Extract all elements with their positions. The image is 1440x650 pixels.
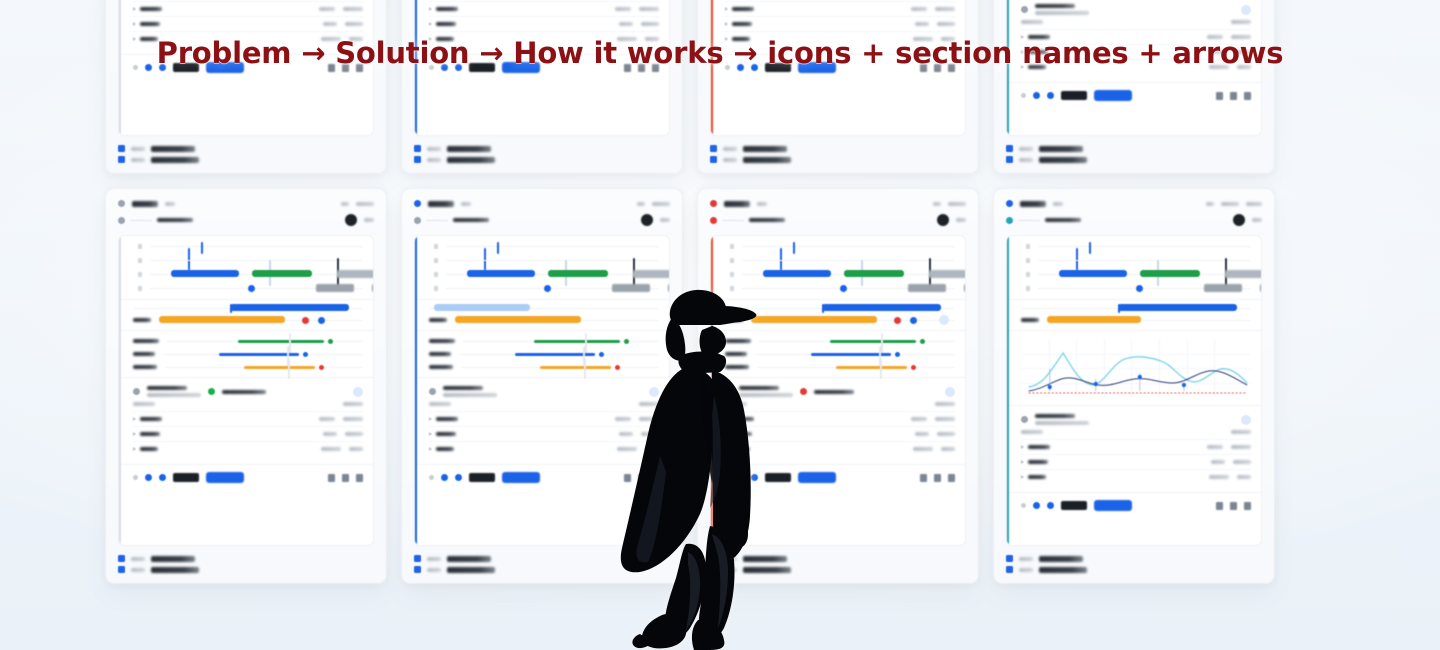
chart-spike bbox=[497, 242, 499, 254]
table-cell bbox=[133, 447, 158, 451]
edit-icon[interactable] bbox=[948, 474, 955, 482]
card-title-group bbox=[414, 200, 471, 207]
timeline-row bbox=[1021, 308, 1251, 309]
toggle-on-icon[interactable] bbox=[1033, 502, 1040, 509]
card-subtitle-group bbox=[1006, 217, 1081, 224]
table-cell-value bbox=[140, 417, 162, 421]
table-cell bbox=[133, 432, 160, 436]
chart-bar bbox=[844, 270, 904, 277]
toggle-on-icon[interactable] bbox=[145, 474, 152, 481]
download-icon[interactable] bbox=[342, 474, 349, 482]
card-header bbox=[414, 200, 670, 226]
legend-value bbox=[447, 556, 491, 562]
legend-key bbox=[1019, 568, 1033, 572]
chart-label-chip bbox=[1225, 270, 1262, 278]
dashboard-card-preview[interactable] bbox=[105, 188, 387, 584]
download-icon[interactable] bbox=[1230, 502, 1237, 510]
table-cell-value bbox=[140, 7, 162, 11]
chart-row bbox=[1021, 272, 1251, 277]
table-row[interactable] bbox=[133, 442, 363, 456]
axis-tick bbox=[133, 258, 142, 263]
card-icon bbox=[1006, 200, 1013, 207]
chart-bar bbox=[252, 270, 312, 277]
gantt-bar bbox=[836, 366, 907, 369]
secondary-button[interactable] bbox=[1061, 501, 1087, 510]
card-tag bbox=[165, 202, 175, 206]
table-cell bbox=[1021, 460, 1048, 464]
legend-marker bbox=[1006, 566, 1013, 573]
timeline-bar bbox=[159, 316, 285, 323]
table-cell-value bbox=[937, 432, 955, 436]
dashboard-card-preview[interactable] bbox=[993, 188, 1275, 584]
table-action-icon[interactable] bbox=[1241, 5, 1251, 15]
table-subtitle bbox=[1035, 421, 1089, 425]
timeline-node bbox=[894, 317, 901, 324]
chart-track bbox=[446, 274, 659, 275]
card-subtitle bbox=[157, 218, 193, 222]
chart-track bbox=[742, 274, 955, 275]
headline-overlay-text: Problem → Solution → How it works → icon… bbox=[0, 36, 1440, 70]
table-header-labels bbox=[1035, 414, 1089, 425]
avatar bbox=[641, 214, 653, 226]
card-icon bbox=[414, 200, 421, 207]
axis-tick bbox=[1021, 258, 1030, 263]
table-cell-value bbox=[1237, 475, 1251, 479]
card-subtitle bbox=[749, 218, 785, 222]
legend-key bbox=[1019, 557, 1033, 561]
table-status-label bbox=[222, 390, 266, 394]
card-header-top bbox=[710, 200, 966, 207]
edit-icon[interactable] bbox=[1244, 92, 1251, 100]
legend-marker bbox=[414, 145, 421, 152]
table-subtitle bbox=[1035, 11, 1089, 15]
timeline-bar bbox=[434, 304, 531, 311]
table-cell-value bbox=[1028, 460, 1048, 464]
timeline-node bbox=[910, 317, 917, 324]
card-tag bbox=[1053, 202, 1063, 206]
card-icon bbox=[710, 200, 717, 207]
legend-value bbox=[743, 146, 787, 152]
chart-label-chip bbox=[337, 270, 374, 278]
timeline-track bbox=[1021, 308, 1251, 309]
gantt-rows bbox=[133, 339, 363, 369]
card-subtitle-group bbox=[710, 217, 785, 224]
filter-icon[interactable] bbox=[920, 474, 927, 482]
card-header bbox=[710, 200, 966, 226]
radio-icon[interactable] bbox=[133, 475, 138, 480]
download-icon[interactable] bbox=[934, 474, 941, 482]
table-subtitle bbox=[147, 393, 201, 397]
table-row[interactable] bbox=[133, 2, 363, 17]
chart-label-chip bbox=[1204, 284, 1242, 292]
radio-icon[interactable] bbox=[429, 475, 434, 480]
timeline-bar bbox=[455, 316, 581, 323]
table-cell-value bbox=[323, 22, 337, 26]
axis-tick-mark bbox=[730, 258, 734, 263]
card-meta-value bbox=[637, 202, 645, 206]
column-header-label bbox=[935, 402, 955, 406]
table-title bbox=[443, 386, 483, 390]
axis-tick-mark bbox=[138, 258, 142, 263]
legend-marker bbox=[1006, 145, 1013, 152]
table-row[interactable] bbox=[429, 2, 659, 17]
legend-value bbox=[151, 556, 195, 562]
column-header-label bbox=[133, 402, 155, 406]
table-cell bbox=[429, 7, 458, 11]
edit-icon[interactable] bbox=[356, 474, 363, 482]
table-section bbox=[1007, 406, 1261, 493]
card-subtitle-icon bbox=[1006, 217, 1013, 224]
card-header-avatar-group bbox=[345, 214, 374, 226]
chart-row bbox=[133, 258, 363, 263]
gantt-label bbox=[133, 365, 157, 369]
chart-track bbox=[446, 260, 659, 261]
chevron-right-icon bbox=[429, 417, 432, 421]
axis-tick bbox=[429, 258, 438, 263]
footer-left-actions bbox=[1021, 500, 1132, 511]
table-action-icon[interactable] bbox=[945, 387, 955, 397]
axis-tick-mark bbox=[138, 244, 142, 249]
table-row[interactable] bbox=[1021, 455, 1251, 470]
primary-button[interactable] bbox=[1094, 500, 1132, 511]
table-cell-value bbox=[436, 432, 456, 436]
timeline-track bbox=[159, 320, 363, 321]
card-title-group bbox=[1006, 200, 1063, 207]
gantt-label bbox=[133, 339, 159, 343]
card-subtitle bbox=[1045, 218, 1081, 222]
card-header-bottom bbox=[118, 214, 374, 226]
chevron-right-icon bbox=[725, 22, 728, 26]
dashboard-card-preview[interactable] bbox=[105, 0, 387, 174]
legend-item bbox=[118, 145, 374, 152]
legend-value bbox=[1039, 146, 1083, 152]
chart-row bbox=[725, 258, 955, 263]
primary-button[interactable] bbox=[502, 472, 540, 483]
table-cell-value bbox=[619, 22, 633, 26]
table-cell-value bbox=[436, 417, 458, 421]
legend-item bbox=[1006, 145, 1262, 152]
toggle-on-icon[interactable] bbox=[159, 474, 166, 481]
table-header-left bbox=[1021, 4, 1089, 15]
column-header-label bbox=[1231, 430, 1251, 434]
gantt-row bbox=[133, 339, 363, 343]
gantt-section bbox=[119, 331, 373, 378]
card-header-meta bbox=[637, 202, 670, 206]
toggle-on-icon[interactable] bbox=[441, 474, 448, 481]
toggle-on-icon[interactable] bbox=[455, 474, 462, 481]
card-subtitle bbox=[453, 218, 489, 222]
chevron-right-icon bbox=[1021, 460, 1024, 464]
table-cell-value bbox=[321, 447, 341, 451]
avatar bbox=[1233, 214, 1245, 226]
card-subtitle-icon bbox=[414, 217, 421, 224]
primary-button[interactable] bbox=[1094, 90, 1132, 101]
axis-tick bbox=[133, 244, 142, 249]
table-cell-value bbox=[732, 22, 752, 26]
gantt-track bbox=[165, 367, 363, 368]
table-action-icon[interactable] bbox=[353, 387, 363, 397]
chart-bar bbox=[1140, 270, 1200, 277]
table-row[interactable] bbox=[725, 17, 955, 32]
axis-tick-mark bbox=[138, 272, 142, 277]
table-row[interactable] bbox=[1021, 470, 1251, 484]
legend-value bbox=[447, 157, 495, 163]
download-icon[interactable] bbox=[1230, 92, 1237, 100]
chart-track bbox=[150, 246, 363, 247]
card-header-top bbox=[414, 200, 670, 207]
chart-bar bbox=[171, 270, 239, 277]
table-cell-value bbox=[436, 447, 454, 451]
timeline-node bbox=[302, 317, 309, 324]
card-meta-value bbox=[356, 202, 374, 206]
chart-rows bbox=[1021, 244, 1251, 291]
card-meta-value bbox=[1206, 202, 1214, 206]
table-cell-value bbox=[639, 7, 659, 11]
table-cell-value bbox=[915, 432, 929, 436]
axis-tick-mark bbox=[1026, 258, 1030, 263]
chart-spike bbox=[1089, 242, 1091, 254]
chart-track bbox=[1038, 274, 1251, 275]
chevron-right-icon bbox=[133, 417, 136, 421]
gantt-track bbox=[163, 354, 363, 355]
timeline-track bbox=[133, 308, 363, 309]
gantt-node bbox=[911, 365, 916, 370]
table-cell-value bbox=[436, 7, 458, 11]
legend-key bbox=[427, 568, 441, 572]
chart-track bbox=[150, 260, 363, 261]
table-cell-value bbox=[1028, 475, 1046, 479]
table-title bbox=[1035, 414, 1075, 418]
timeline-node bbox=[939, 315, 949, 325]
linechart bbox=[1021, 339, 1251, 397]
panel-accent-bar bbox=[1007, 236, 1009, 545]
legend-item bbox=[1006, 156, 1262, 163]
chevron-right-icon bbox=[133, 7, 136, 11]
secondary-button[interactable] bbox=[1061, 91, 1087, 100]
gantt-node bbox=[328, 339, 333, 344]
screenshot-stage: Problem → Solution → How it works → icon… bbox=[0, 0, 1440, 650]
avatar bbox=[937, 214, 949, 226]
chart-bar bbox=[1059, 270, 1127, 277]
card-subtitle-group bbox=[414, 217, 489, 224]
axis-tick bbox=[429, 272, 438, 277]
card-header-top bbox=[1006, 200, 1262, 207]
column-header-label bbox=[1231, 20, 1251, 24]
chart-row bbox=[133, 244, 363, 249]
card-legend bbox=[1006, 555, 1262, 573]
legend-value bbox=[1039, 567, 1087, 573]
filter-icon[interactable] bbox=[1216, 92, 1223, 100]
table-cell-value bbox=[345, 22, 363, 26]
axis-tick-mark bbox=[434, 244, 438, 249]
legend-marker bbox=[414, 156, 421, 163]
card-header bbox=[1006, 200, 1262, 226]
walking-person-silhouette bbox=[600, 276, 810, 650]
legend-key bbox=[131, 557, 145, 561]
dashboard-card-preview[interactable] bbox=[697, 0, 979, 174]
table-header-icon bbox=[1021, 416, 1028, 423]
card-title bbox=[1020, 201, 1046, 207]
table-cell-value bbox=[349, 447, 363, 451]
chevron-right-icon bbox=[133, 432, 136, 436]
radio-icon[interactable] bbox=[1021, 93, 1026, 98]
table-cell-value bbox=[937, 22, 955, 26]
table-header-labels bbox=[1035, 4, 1089, 15]
axis-tick bbox=[1021, 244, 1030, 249]
chart-label-chip bbox=[1260, 284, 1262, 292]
table-cell-value bbox=[1207, 445, 1223, 449]
card-legend bbox=[710, 145, 966, 163]
table-header-labels bbox=[443, 386, 497, 397]
table-row[interactable] bbox=[429, 17, 659, 32]
dashboard-card-preview[interactable] bbox=[401, 0, 683, 174]
card-subtitle-group bbox=[118, 217, 193, 224]
table-cell-value bbox=[941, 447, 955, 451]
table-cell-value bbox=[140, 447, 158, 451]
secondary-button[interactable] bbox=[173, 473, 199, 482]
gantt-label bbox=[429, 339, 455, 343]
gantt-label bbox=[133, 352, 155, 356]
axis-tick-mark bbox=[730, 244, 734, 249]
table-row[interactable] bbox=[133, 17, 363, 32]
axis-tick bbox=[725, 258, 734, 263]
timeline-label bbox=[429, 318, 447, 322]
legend-item bbox=[118, 566, 374, 573]
dashboard-card-preview[interactable] bbox=[993, 0, 1275, 174]
table-cell-value bbox=[935, 7, 955, 11]
legend-marker bbox=[710, 156, 717, 163]
legend-item bbox=[710, 156, 966, 163]
chart-row bbox=[1021, 286, 1251, 291]
card-header-avatar-group bbox=[1233, 214, 1262, 226]
card-header bbox=[118, 200, 374, 226]
filter-icon[interactable] bbox=[1216, 502, 1223, 510]
chart-node bbox=[1136, 285, 1143, 292]
divider bbox=[1018, 220, 1040, 221]
chart-track bbox=[1038, 288, 1251, 289]
card-legend bbox=[118, 555, 374, 573]
chevron-right-icon bbox=[429, 447, 432, 451]
card-meta-value bbox=[1221, 202, 1239, 206]
legend-key bbox=[723, 147, 737, 151]
gantt-track bbox=[167, 341, 363, 342]
timeline-bar bbox=[1118, 304, 1238, 311]
table-header-left bbox=[429, 386, 497, 397]
card-footer-actions bbox=[1007, 493, 1261, 518]
table-cell bbox=[725, 22, 752, 26]
chevron-right-icon bbox=[429, 7, 432, 11]
legend-item bbox=[118, 156, 374, 163]
table-header-icon bbox=[133, 388, 140, 395]
table-row[interactable] bbox=[1021, 440, 1251, 455]
linechart-series bbox=[1021, 339, 1251, 397]
axis-tick bbox=[1021, 272, 1030, 277]
card-meta-value bbox=[652, 202, 670, 206]
table-cell-value bbox=[615, 7, 631, 11]
filter-icon[interactable] bbox=[328, 474, 335, 482]
table-cell-value bbox=[1028, 445, 1050, 449]
chart-label-chip bbox=[372, 284, 374, 292]
axis-tick bbox=[133, 286, 142, 291]
chart-label-chip bbox=[929, 270, 966, 278]
footer-left-actions bbox=[429, 472, 540, 483]
toggle-on-icon[interactable] bbox=[1047, 502, 1054, 509]
divider bbox=[722, 220, 744, 221]
footer-right-actions bbox=[328, 474, 363, 482]
toggle-on-icon[interactable] bbox=[1033, 92, 1040, 99]
table-action-icon[interactable] bbox=[1241, 415, 1251, 425]
edit-icon[interactable] bbox=[1244, 502, 1251, 510]
radio-icon[interactable] bbox=[1021, 503, 1026, 508]
table-cell bbox=[1021, 475, 1046, 479]
column-header-label bbox=[343, 402, 363, 406]
chevron-right-icon bbox=[1021, 445, 1024, 449]
footer-right-actions bbox=[920, 474, 955, 482]
axis-tick-mark bbox=[138, 286, 142, 291]
table-cell bbox=[429, 432, 456, 436]
footer-right-actions bbox=[1216, 502, 1251, 510]
table-section bbox=[119, 378, 373, 465]
card-title-group bbox=[710, 200, 767, 207]
card-title-group bbox=[118, 200, 175, 207]
card-subtitle-icon bbox=[710, 217, 717, 224]
card-footer-actions bbox=[119, 465, 373, 490]
table-header-left bbox=[133, 386, 266, 397]
table-status-dot bbox=[208, 388, 215, 395]
card-icon bbox=[118, 200, 125, 207]
timeline-marker bbox=[230, 304, 232, 313]
table-cell-value bbox=[343, 417, 363, 421]
table-cell-value bbox=[436, 22, 456, 26]
table-cell bbox=[133, 417, 162, 421]
timeline-row bbox=[133, 308, 363, 309]
table-cell bbox=[133, 7, 162, 11]
timeline-node bbox=[318, 317, 325, 324]
avatar-label bbox=[1252, 218, 1262, 222]
card-header-avatar-group bbox=[937, 214, 966, 226]
legend-item bbox=[118, 555, 374, 562]
table-row[interactable] bbox=[133, 427, 363, 442]
card-preview-panel bbox=[118, 235, 374, 546]
toggle-on-icon[interactable] bbox=[1047, 92, 1054, 99]
table-cell bbox=[429, 22, 456, 26]
primary-button[interactable] bbox=[206, 472, 244, 483]
chart-row bbox=[133, 272, 363, 277]
timeline-bar bbox=[1047, 316, 1141, 323]
table-title bbox=[147, 386, 187, 390]
table-cell-value bbox=[915, 22, 929, 26]
legend-value bbox=[743, 157, 791, 163]
divider bbox=[426, 220, 448, 221]
legend-item bbox=[1006, 555, 1262, 562]
table-cell-value bbox=[1231, 445, 1251, 449]
card-meta-value bbox=[933, 202, 941, 206]
chevron-right-icon bbox=[725, 7, 728, 11]
chart-node bbox=[840, 285, 847, 292]
axis-tick bbox=[429, 244, 438, 249]
table-cell-value bbox=[319, 417, 335, 421]
table-cell-value bbox=[935, 417, 955, 421]
secondary-button[interactable] bbox=[469, 473, 495, 482]
table-cell-value bbox=[345, 432, 363, 436]
chart-row bbox=[429, 258, 659, 263]
chart-track bbox=[1038, 246, 1251, 247]
gantt-label bbox=[429, 352, 451, 356]
table-row[interactable] bbox=[725, 2, 955, 17]
table-cell-value bbox=[1233, 460, 1251, 464]
table-row[interactable] bbox=[133, 412, 363, 427]
chart-label-chip bbox=[964, 284, 966, 292]
